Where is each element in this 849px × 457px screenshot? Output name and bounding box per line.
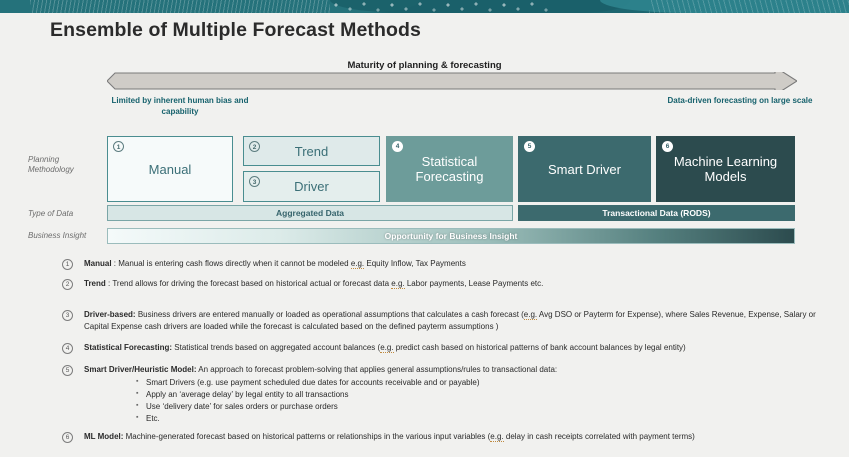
method-box-statistical-forecasting[interactable]: 4 Statistical Forecasting [386,136,513,202]
list-item: Smart Drivers (e.g. use payment schedule… [136,377,822,389]
method-badge-5: 5 [524,141,535,152]
note-title-2: Trend [84,279,106,288]
arrow-right-label: Data-driven forecasting on large scale [655,95,825,106]
method-label-statistical-forecasting: Statistical Forecasting [387,154,512,184]
method-badge-6: 6 [662,141,673,152]
method-label-manual: Manual [143,162,198,177]
list-item: Etc. [136,413,822,425]
method-box-manual[interactable]: 1 Manual [107,136,233,202]
method-badge-1: 1 [113,141,124,152]
method-box-trend[interactable]: 2 Trend [243,136,380,166]
method-box-smart-driver[interactable]: 5 Smart Driver [518,136,651,202]
row-label-type-of-data: Type of Data [28,209,100,219]
note-badge-2: 2 [62,279,73,290]
note-after-6: delay in cash receipts correlated with p… [504,432,695,441]
method-badge-4: 4 [392,141,403,152]
list-item: Use ‘delivery date’ for sales orders or … [136,401,822,413]
note-item-1: 1 Manual : Manual is entering cash flows… [62,258,822,270]
note-title-6: ML Model: [84,432,123,441]
band-arc-texture [649,0,849,13]
method-label-machine-learning-models: Machine Learning Models [657,154,794,184]
page-title: Ensemble of Multiple Forecast Methods [50,19,421,42]
note-item-2: 2 Trend : Trend allows for driving the f… [62,278,822,290]
method-box-driver[interactable]: 3 Driver [243,171,380,202]
note-before-1: Manual is entering cash flows directly w… [118,259,351,268]
note-item-6: 6 ML Model: Machine-generated forecast b… [62,431,822,443]
note-before-2: Trend allows for driving the forecast ba… [112,279,391,288]
note-text-1: Manual : Manual is entering cash flows d… [84,258,822,270]
note-item-3: 3 Driver-based: Business drivers are ent… [62,309,822,332]
note-badge-6: 6 [62,432,73,443]
slide-canvas: Ensemble of Multiple Forecast Methods Ma… [0,0,849,457]
note-text-3: Driver-based: Business drivers are enter… [84,309,822,332]
note-before-5: An approach to forecast problem-solving … [198,365,557,374]
row-label-planning-methodology: Planning Methodology [28,155,100,175]
method-badge-3: 3 [249,176,260,187]
note-text-6: ML Model: Machine-generated forecast bas… [84,431,822,443]
method-label-driver: Driver [288,179,335,194]
row-label-business-insight: Business Insight [28,231,108,241]
note-text-2: Trend : Trend allows for driving the for… [84,278,822,290]
decorative-header-band [0,0,849,13]
legend-notes: 1 Manual : Manual is entering cash flows… [62,258,822,452]
method-box-machine-learning-models[interactable]: 6 Machine Learning Models [656,136,795,202]
list-item: Apply an ‘average delay’ by legal entity… [136,389,822,401]
note-title-4: Statistical Forecasting: [84,343,172,352]
note-after-4: predict cash based on historical pattern… [394,343,686,352]
note-eg-6: e.g. [490,432,503,442]
note-eg-3: e.g. [524,310,537,320]
note-badge-5: 5 [62,365,73,376]
maturity-arrow-icon [107,72,797,90]
note-title-5: Smart Driver/Heuristic Model: [84,365,196,374]
note-title-3: Driver-based: [84,310,136,319]
band-hatch-texture [30,0,330,13]
smart-driver-bullet-list: Smart Drivers (e.g. use payment schedule… [136,377,822,425]
note-text-5: Smart Driver/Heuristic Model: An approac… [84,364,822,376]
data-bar-aggregated: Aggregated Data [107,205,513,221]
note-item-5: 5 Smart Driver/Heuristic Model: An appro… [62,364,822,426]
method-label-trend: Trend [289,144,334,159]
band-dots-texture [330,1,550,12]
note-before-4: Statistical trends based on aggregated a… [174,343,380,352]
note-before-6: Machine-generated forecast based on hist… [126,432,491,441]
note-after-2: Labor payments, Lease Payments etc. [405,279,544,288]
note-badge-3: 3 [62,310,73,321]
note-after-1: Equity Inflow, Tax Payments [364,259,466,268]
note-badge-4: 4 [62,343,73,354]
note-eg-1: e.g. [351,259,364,269]
data-bar-transactional: Transactional Data (RODS) [518,205,795,221]
note-eg-4: e.g. [380,343,393,353]
arrow-caption: Maturity of planning & forecasting [0,60,849,71]
note-before-3: Business drivers are entered manually or… [138,310,524,319]
method-label-smart-driver: Smart Driver [542,162,627,177]
note-text-4: Statistical Forecasting: Statistical tre… [84,342,822,354]
note-badge-1: 1 [62,259,73,270]
arrow-left-label: Limited by inherent human bias and capab… [95,95,265,117]
business-insight-bar: Opportunity for Business Insight [107,228,795,244]
method-badge-2: 2 [249,141,260,152]
note-eg-2: e.g. [391,279,404,289]
note-item-4: 4 Statistical Forecasting: Statistical t… [62,342,822,354]
note-title-1: Manual [84,259,112,268]
